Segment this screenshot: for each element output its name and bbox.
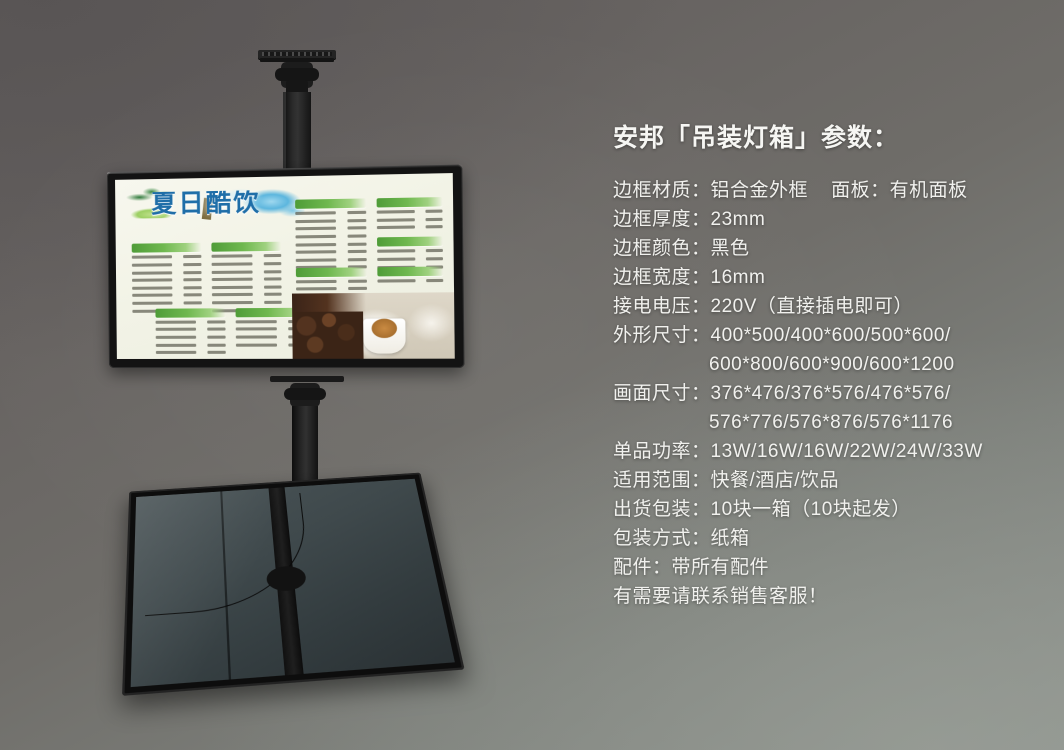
menu-column-1 — [132, 243, 202, 317]
menu-row — [295, 250, 367, 256]
menu-headline-art: 夏日酷饮 — [122, 180, 309, 237]
back-panel-rib — [221, 491, 232, 679]
menu-row — [295, 227, 367, 233]
plate-holes — [262, 52, 332, 56]
product-photo: 夏日酷饮 — [0, 0, 560, 750]
menu-row — [132, 271, 201, 277]
menu-row — [132, 255, 201, 261]
spec-line: 适用范围：快餐/酒店/饮品 — [613, 466, 1043, 495]
menu-section-header — [377, 266, 443, 276]
menu-row — [133, 294, 202, 300]
mount-plate-lower — [270, 376, 344, 382]
spec-line: 配件：带所有配件 — [613, 553, 1043, 582]
menu-section-header — [132, 243, 201, 253]
spec-title: 安邦「吊装灯箱」参数： — [613, 118, 1043, 154]
spec-line: 接电电压：220V（直接插电即可） — [613, 292, 1043, 321]
menu-column-4 — [377, 197, 444, 273]
menu-row — [156, 351, 226, 356]
coffee-beans-icon — [292, 311, 363, 359]
menu-section-header — [295, 199, 367, 209]
spec-line: 有需要请联系销售客服！ — [613, 582, 1043, 611]
menu-column-3 — [295, 199, 367, 274]
menu-row — [212, 285, 282, 291]
spec-line: 出货包装：10块一箱（10块起发） — [613, 495, 1043, 524]
spec-line-continuation: 576*776/576*876/576*1176 — [613, 408, 1043, 437]
menu-row — [295, 234, 367, 240]
menu-row — [156, 343, 226, 348]
menu-row — [377, 226, 443, 232]
menu-row — [212, 293, 282, 299]
menu-row — [212, 278, 282, 284]
menu-row — [156, 336, 226, 341]
menu-row — [377, 210, 443, 216]
menu-row — [295, 219, 367, 225]
light-box-back-panel — [122, 473, 465, 696]
menu-row — [295, 242, 367, 248]
menu-row — [377, 218, 443, 224]
menu-row — [211, 262, 281, 268]
spec-line-list: 边框材质：铝合金外框 面板：有机面板 边框厚度：23mm 边框颜色：黑色 边框宽… — [613, 176, 1043, 611]
spec-line: 包装方式：纸箱 — [613, 524, 1043, 553]
menu-section-header — [156, 308, 226, 317]
menu-section-header — [377, 237, 443, 247]
menu-headline: 夏日酷饮 — [151, 190, 301, 224]
spec-line: 边框颜色：黑色 — [613, 234, 1043, 263]
spec-line-continuation: 600*800/600*900/600*1200 — [613, 350, 1043, 379]
power-cable — [145, 493, 313, 616]
spec-line: 边框材质：铝合金外框 面板：有机面板 — [613, 176, 1043, 205]
menu-row — [132, 278, 201, 284]
spec-line: 单品功率：13W/16W/16W/22W/24W/33W — [613, 437, 1043, 466]
menu-section-header — [295, 267, 367, 277]
product-spec-image: 夏日酷饮 — [0, 0, 1064, 750]
menu-face: 夏日酷饮 — [115, 173, 455, 359]
menu-section-header — [211, 242, 281, 252]
specification-panel: 安邦「吊装灯箱」参数： 边框材质：铝合金外框 面板：有机面板 边框厚度：23mm… — [613, 118, 1043, 611]
menu-row — [295, 258, 367, 264]
menu-row — [211, 270, 281, 276]
back-panel-face — [131, 479, 455, 687]
menu-row — [132, 263, 201, 269]
menu-light-box-front: 夏日酷饮 — [107, 165, 465, 368]
menu-row — [296, 279, 368, 285]
swivel-joint-lower-assembly — [290, 383, 320, 407]
menu-row — [156, 320, 226, 325]
menu-column-7 — [156, 308, 226, 359]
menu-section-header — [377, 197, 443, 207]
menu-row — [133, 301, 202, 307]
coffee-photo — [292, 292, 454, 359]
menu-row — [212, 301, 282, 307]
spec-line: 画面尺寸：376*476/376*576/476*576/ — [613, 379, 1043, 408]
cable-clamp — [266, 565, 307, 592]
coffee-cup-icon — [363, 319, 406, 354]
menu-row — [211, 254, 281, 260]
spec-line: 边框宽度：16mm — [613, 263, 1043, 292]
menu-row — [295, 211, 367, 217]
spec-line: 边框厚度：23mm — [613, 205, 1043, 234]
back-panel-bracket — [268, 487, 304, 675]
spec-line: 外形尺寸：400*500/400*600/500*600/ — [613, 321, 1043, 350]
menu-row — [377, 257, 443, 263]
menu-column-2 — [211, 242, 282, 316]
menu-row — [377, 249, 443, 255]
menu-row — [132, 286, 201, 292]
menu-row — [156, 328, 226, 333]
menu-row — [377, 278, 443, 284]
menu-column-6 — [377, 266, 443, 287]
